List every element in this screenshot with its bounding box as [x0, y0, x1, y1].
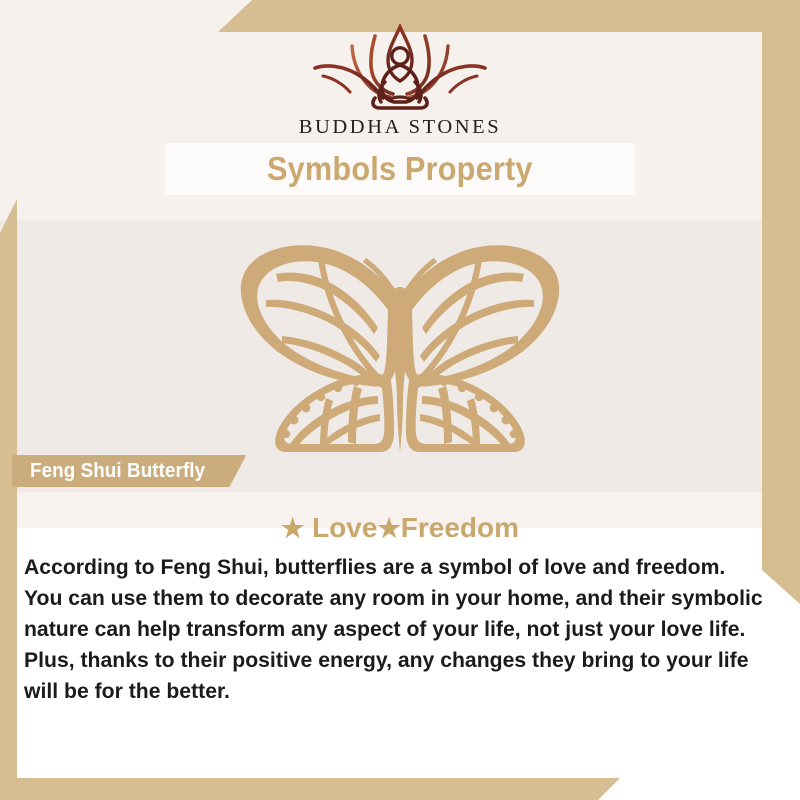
page-title: Symbols Property — [267, 150, 533, 188]
butterfly-icon — [230, 238, 570, 453]
feng-shui-banner: Feng Shui Butterfly — [12, 455, 246, 487]
banner-label: Feng Shui Butterfly — [30, 460, 205, 483]
star-icon-left: ★ — [281, 513, 304, 543]
subtitle-word-freedom: Freedom — [401, 512, 519, 543]
title-bar: Symbols Property — [165, 143, 635, 195]
lotus-meditation-icon — [297, 24, 503, 110]
star-icon-middle: ★ — [377, 513, 400, 543]
illustration — [0, 238, 800, 453]
promo-card: BUDDHA STONES Symbols Property — [0, 0, 800, 800]
brand-name: BUDDHA STONES — [299, 116, 502, 139]
subtitle-word-love: Love — [304, 512, 377, 543]
description-paragraph: According to Feng Shui, butterflies are … — [24, 552, 769, 707]
gold-border-bottom — [0, 778, 620, 800]
subtitle: ★ Love★Freedom — [0, 512, 800, 544]
brand-logo: BUDDHA STONES — [0, 24, 800, 139]
